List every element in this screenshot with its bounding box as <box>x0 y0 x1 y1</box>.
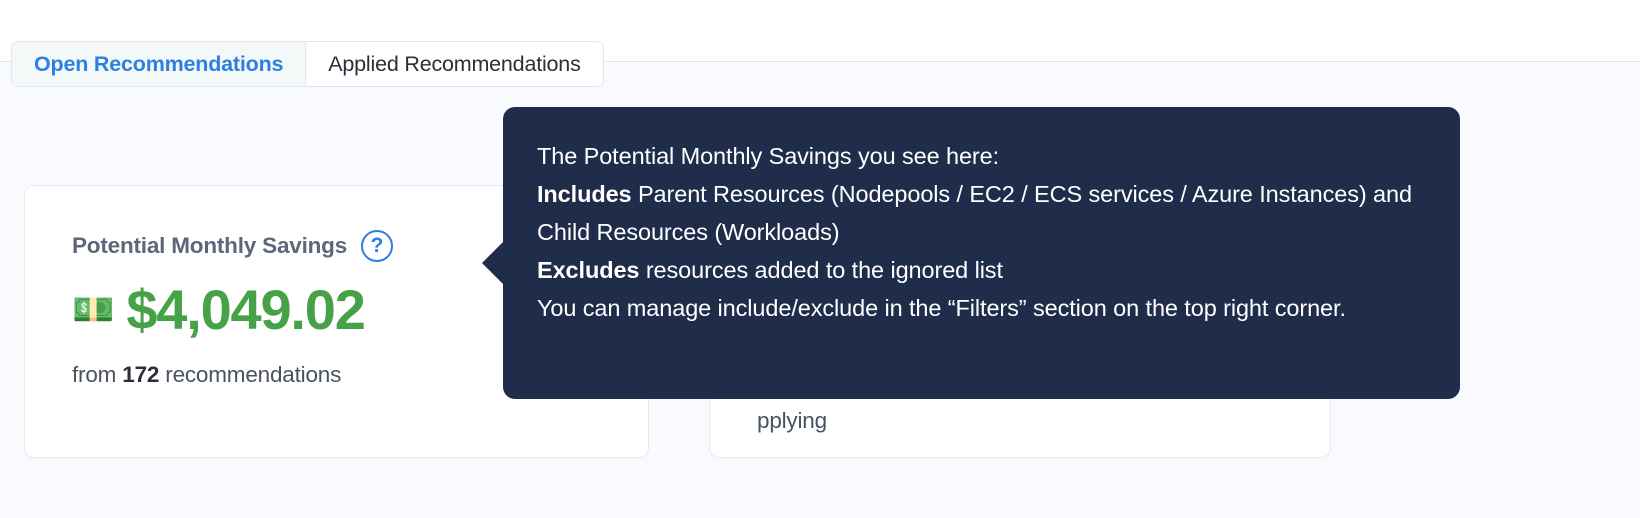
tooltip-arrow-icon <box>482 241 504 285</box>
secondary-card-obscured-text: pplying <box>757 408 1330 434</box>
tooltip-line-4: You can manage include/exclude in the “F… <box>537 295 1346 321</box>
tooltip-excludes-text: resources added to the ignored list <box>639 257 1003 283</box>
tooltip-excludes-label: Excludes <box>537 257 639 283</box>
savings-amount-value: $4,049.02 <box>126 282 364 338</box>
savings-card-title: Potential Monthly Savings <box>72 233 347 259</box>
count-suffix-label: recommendations <box>165 362 341 387</box>
tooltip-body-text: The Potential Monthly Savings you see he… <box>537 137 1426 327</box>
tab-open-recommendations[interactable]: Open Recommendations <box>12 42 305 86</box>
money-banknote-icon: 💵 <box>72 293 114 327</box>
tooltip-line-1: The Potential Monthly Savings you see he… <box>537 143 999 169</box>
tab-applied-recommendations[interactable]: Applied Recommendations <box>305 42 602 86</box>
recommendations-tab-strip: Open Recommendations Applied Recommendat… <box>11 41 604 87</box>
count-prefix-label: from <box>72 362 116 387</box>
savings-info-tooltip: The Potential Monthly Savings you see he… <box>503 107 1460 399</box>
recommendations-count-value: 172 <box>122 362 159 387</box>
question-mark-icon[interactable]: ? <box>361 230 393 262</box>
tooltip-includes-text: Parent Resources (Nodepools / EC2 / ECS … <box>537 181 1412 245</box>
tooltip-includes-label: Includes <box>537 181 632 207</box>
